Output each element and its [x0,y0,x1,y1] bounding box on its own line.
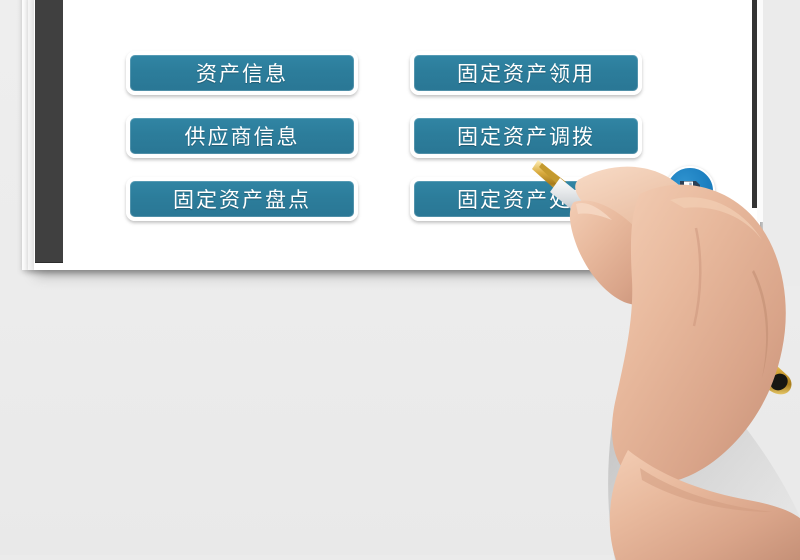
panel-outer-background [763,0,800,286]
menu-button-supplier-info[interactable]: 供应商信息 [126,114,358,158]
menu-button-fixed-asset-requisition[interactable]: 固定资产领用 [410,51,642,95]
panel-left-strip [35,0,63,262]
menu-button-grid: 资产信息 固定资产领用 供应商信息 固定资产调拨 固定资产盘点 固定资产处置 [126,51,646,226]
menu-button-label: 固定资产处置 [457,184,595,214]
save-floppy-icon [677,178,703,204]
menu-button-asset-info[interactable]: 资产信息 [126,51,358,95]
menu-button-label: 资产信息 [196,58,288,88]
menu-button-label: 固定资产调拨 [457,121,595,151]
save-badge-button[interactable] [665,166,715,216]
menu-button-fixed-asset-stocktake[interactable]: 固定资产盘点 [126,177,358,221]
menu-button-label: 固定资产盘点 [173,184,311,214]
menu-button-label: 供应商信息 [185,121,300,151]
menu-button-label: 固定资产领用 [457,58,595,88]
menu-button-fixed-asset-transfer[interactable]: 固定资产调拨 [410,114,642,158]
page-root: 资产信息 固定资产领用 供应商信息 固定资产调拨 固定资产盘点 固定资产处置 [0,0,800,555]
menu-button-fixed-asset-disposal[interactable]: 固定资产处置 [410,177,642,221]
